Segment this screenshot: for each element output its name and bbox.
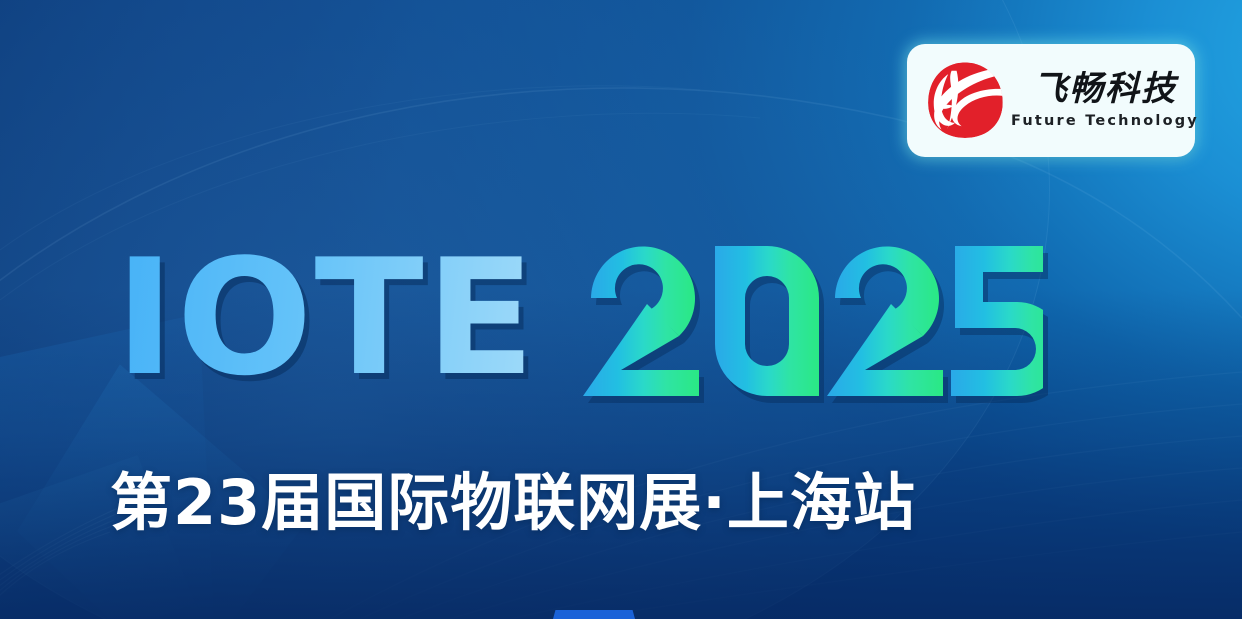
company-name-en: Future Technology: [1011, 113, 1199, 129]
main-title: IOTE: [115, 238, 1043, 398]
title-year-2025: [583, 246, 1043, 396]
title-iote: IOTE: [115, 238, 537, 398]
event-subtitle: 第23届国际物联网展·上海站: [110, 452, 916, 542]
iote-2025-banner: 飞畅科技 Future Technology IOTE: [0, 0, 1242, 619]
company-name-cn: 飞畅科技: [1033, 72, 1177, 108]
company-logo-card[interactable]: 飞畅科技 Future Technology: [907, 44, 1195, 157]
feichang-red-circle-logo-icon: [923, 59, 1007, 143]
bottom-accent-tab: [553, 610, 635, 619]
company-logo-text: 飞畅科技 Future Technology: [1011, 72, 1199, 129]
